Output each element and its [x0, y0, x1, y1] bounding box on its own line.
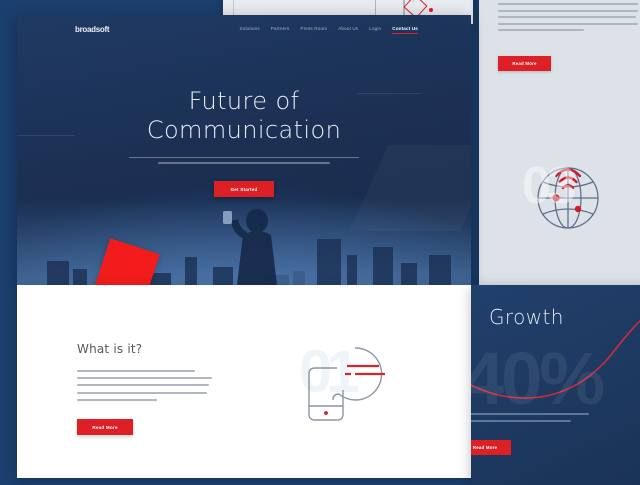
hero-topbar: broadsoft Solutions Partners Press Room … — [17, 15, 471, 49]
primary-nav: Solutions Partners Press Room About Us L… — [240, 26, 418, 34]
phone-chat-illustration: 01 — [295, 328, 417, 438]
nav-item-login[interactable]: Login — [369, 26, 381, 34]
what-is-it-card: What is it? Read More 01 — [17, 285, 471, 478]
nav-item-press-room[interactable]: Press Room — [300, 26, 327, 34]
growth-card: Growth 40% Read More — [471, 285, 640, 485]
phone-home-dot-icon — [324, 411, 328, 415]
what-is-it-body-text — [77, 370, 212, 406]
right-panel-body-text — [498, 3, 638, 36]
growth-read-more-button[interactable]: Read More — [471, 440, 511, 455]
ghost-number: 03 — [522, 160, 572, 212]
location-dot-icon — [575, 206, 581, 212]
get-started-button[interactable]: Get Started — [214, 181, 274, 197]
what-is-it-read-more-button[interactable]: Read More — [77, 419, 133, 435]
growth-big-stat: 40% — [471, 342, 602, 416]
what-is-it-heading: What is it? — [77, 342, 142, 356]
red-dot-icon — [429, 8, 433, 12]
nav-item-about-us[interactable]: About Us — [338, 26, 358, 34]
growth-heading: Growth — [489, 305, 564, 329]
nav-item-contact-us[interactable]: Contact Us — [392, 26, 418, 34]
brand-logo[interactable]: broadsoft — [75, 25, 109, 34]
hero-subtext — [129, 157, 359, 165]
nav-item-solutions[interactable]: Solutions — [240, 26, 260, 34]
right-panel-read-more-button[interactable]: Read More — [498, 56, 551, 71]
mockup-collage: Read More 03 — [0, 0, 640, 480]
growth-body-text — [471, 413, 593, 427]
hero-content: Future of Communication — [17, 87, 471, 164]
hero-title: Future of Communication — [17, 87, 471, 146]
nav-item-partners[interactable]: Partners — [271, 26, 290, 34]
right-feature-panel: Read More 03 — [479, 0, 640, 286]
hero-card: broadsoft Solutions Partners Press Room … — [17, 15, 471, 285]
hero-title-line-2: Communication — [17, 116, 471, 145]
hero-title-line-1: Future of — [17, 87, 471, 116]
city-skyline-illustration — [17, 199, 471, 285]
globe-wifi-illustration: 03 — [516, 136, 620, 240]
ghost-number: 01 — [299, 342, 354, 402]
